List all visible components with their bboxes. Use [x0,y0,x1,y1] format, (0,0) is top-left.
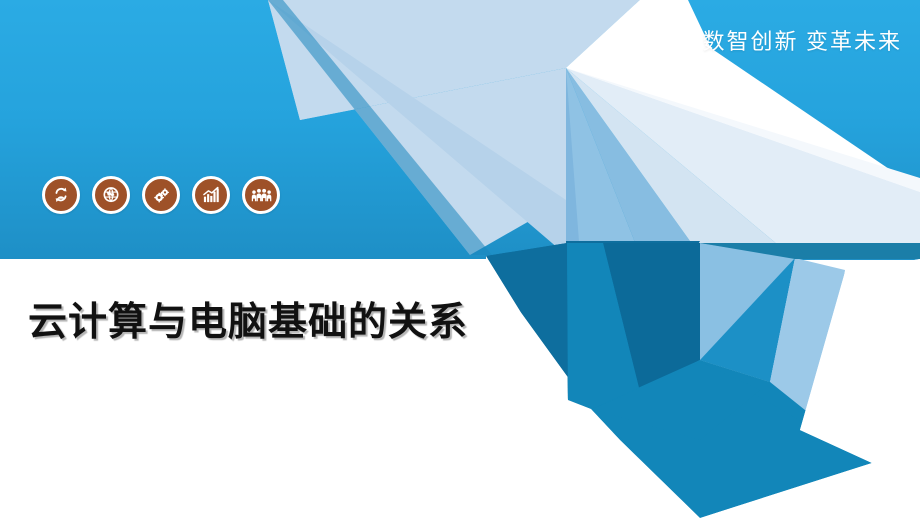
bar-chart-icon[interactable] [192,176,230,214]
page-title: 云计算与电脑基础的关系 [28,291,468,347]
people-group-icon[interactable] [242,176,280,214]
gears-icon[interactable] [142,176,180,214]
slide-canvas: 数智创新 变革未来 [0,0,920,518]
globe-icon[interactable] [92,176,130,214]
recycle-cloud-icon[interactable] [42,176,80,214]
tagline-text: 数智创新 变革未来 [702,24,902,56]
icon-strip [42,176,280,214]
low-poly-origami-graphic [0,0,920,518]
